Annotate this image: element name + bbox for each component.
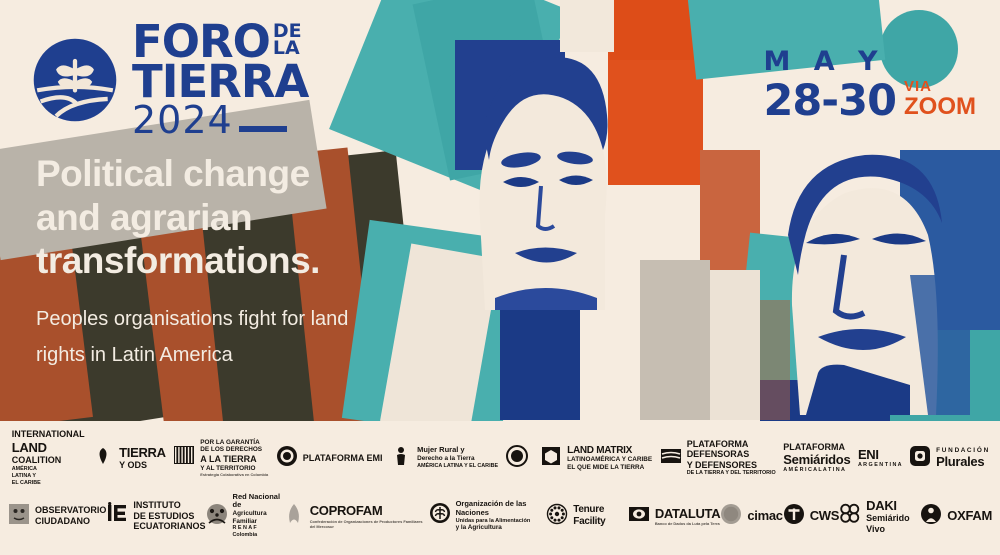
partner-line: Semiárido Vivo bbox=[866, 513, 920, 534]
partner-logo-cimac[interactable]: cimac bbox=[720, 503, 782, 530]
cube-icon bbox=[540, 445, 562, 467]
partner-line: cimac bbox=[747, 508, 782, 523]
brand-year: 2024 bbox=[132, 102, 233, 138]
ie-monogram-icon bbox=[106, 502, 128, 529]
partner-label-cws: CWS bbox=[810, 508, 839, 523]
partner-line: PLATAFORMA bbox=[687, 439, 776, 450]
flag-box-icon bbox=[628, 503, 650, 530]
partner-logo-tenure-facility[interactable]: Tenure Facility bbox=[546, 503, 628, 530]
partner-logo-international-land-coalition[interactable]: INTERNATIONALLANDCOALITIONAMÉRICALATINA … bbox=[12, 429, 85, 487]
partner-subline: R E N A F Colombia bbox=[233, 525, 283, 539]
event-poster: FORO DE LA TIERRA 2024 Political change … bbox=[0, 0, 1000, 555]
partner-line: OBSERVATORIO bbox=[35, 505, 106, 516]
striped-square-icon bbox=[173, 444, 195, 471]
plant-field-circle-icon bbox=[32, 37, 118, 123]
partner-label-fundacion-plurales: F U N D A C I Ó NPlurales bbox=[936, 447, 988, 470]
portrait-woman bbox=[455, 10, 625, 310]
globe-dots-icon bbox=[546, 503, 568, 530]
portrait-woman-icon bbox=[455, 10, 625, 310]
round-seal-icon bbox=[720, 503, 742, 530]
round-seal-icon bbox=[720, 503, 742, 525]
leaf-icon bbox=[92, 445, 114, 467]
partner-subline: Confederación de Organizaciones de Produ… bbox=[310, 519, 429, 529]
partner-logo-dataluta[interactable]: DATALUTABanco de Dados da Luta pela Terr… bbox=[628, 503, 720, 530]
brand-underline bbox=[239, 126, 287, 132]
partner-label-oxfam: OXFAM bbox=[947, 508, 992, 523]
subtitle-line-1: Peoples organisations fight for land bbox=[36, 301, 466, 337]
foro-de-la-tierra-logo: FORO DE LA TIERRA 2024 bbox=[32, 22, 308, 138]
grey-square-icon bbox=[8, 503, 30, 525]
partner-line: INSTITUTO bbox=[133, 500, 205, 511]
partner-label-land-matrix: LAND MATRIXLATINOAMÉRICA Y CARIBEEL QUE … bbox=[567, 445, 652, 472]
fao-wheat-icon bbox=[429, 502, 451, 524]
partner-line: DATALUTA bbox=[655, 506, 720, 521]
partner-subline: AMÉRICA LATINA Y EL CARIBE bbox=[417, 463, 498, 470]
rounded-square-icon bbox=[909, 445, 931, 472]
shape-grey-fleck bbox=[640, 260, 710, 420]
partner-line: CWS bbox=[810, 508, 839, 523]
event-platform: ZOOM bbox=[904, 93, 976, 120]
partner-line: COPROFAM bbox=[310, 503, 429, 518]
cross-circle-icon bbox=[783, 503, 805, 525]
partner-logo-plataforma-semiaridos[interactable]: PLATAFORMASemiáridosA M É R I C A L A T … bbox=[783, 442, 850, 475]
partner-line: ENI bbox=[858, 447, 902, 462]
circle-emblem-icon bbox=[276, 445, 298, 467]
partner-line: Y AL TERRITORIO bbox=[200, 465, 268, 473]
partner-line: DE ESTUDIOS bbox=[133, 511, 205, 522]
partner-label-observatorio-ciudadano: OBSERVATORIOCIUDADANO bbox=[35, 505, 106, 526]
partner-logo-red-nacional-de-agricultura-familiar[interactable]: Red Nacional deAgricultura FamiliarR E N… bbox=[206, 493, 283, 540]
partner-line: CIUDADANO bbox=[35, 516, 106, 527]
feather-icon bbox=[283, 503, 305, 530]
partner-label-plataforma-emi: PLATAFORMA EMI bbox=[303, 453, 383, 464]
partner-line: LATINOAMÉRICA Y CARIBE bbox=[567, 456, 652, 464]
partner-label-plataforma-semiaridos: PLATAFORMASemiáridosA M É R I C A L A T … bbox=[783, 442, 850, 475]
wave-block-icon bbox=[660, 445, 682, 472]
partner-logo-plataforma-defensoras-y-defensores[interactable]: PLATAFORMADEFENSORASY DEFENSORESDE LA TI… bbox=[660, 439, 776, 478]
partner-logo-por-la-garantia-de-los-derechos[interactable]: POR LA GARANTÍADE LOS DERECHOSA LA TIERR… bbox=[173, 439, 268, 477]
event-days: 28-30 bbox=[763, 81, 896, 122]
partner-row-1: INTERNATIONALLANDCOALITIONAMÉRICALATINA … bbox=[0, 429, 1000, 487]
ie-monogram-icon bbox=[106, 502, 128, 524]
partner-subline: A M É R I C A L A T I N A bbox=[783, 467, 850, 474]
headline-line-1: Political change bbox=[36, 152, 466, 196]
person-circle-icon bbox=[920, 503, 942, 525]
partner-label-international-land-coalition: INTERNATIONALLANDCOALITIONAMÉRICALATINA … bbox=[12, 429, 85, 487]
partner-label-eni-argentina: ENIA R G E N T I N A bbox=[858, 447, 902, 469]
partner-logo-observatorio-ciudadano[interactable]: OBSERVATORIOCIUDADANO bbox=[8, 503, 106, 530]
partner-line: Agricultura Familiar bbox=[233, 510, 283, 525]
partner-label-fao: Organización de las NacionesUnidas para … bbox=[456, 500, 547, 532]
partner-label-mujer-rural-y-derecho-a-la-tierra: Mujer Rural yDerecho a la TierraAMÉRICA … bbox=[417, 446, 498, 469]
seal-icon bbox=[506, 445, 528, 472]
partner-line: LAND bbox=[12, 440, 85, 455]
partner-logo-emblem-seal[interactable] bbox=[506, 445, 533, 472]
event-month: M A Y bbox=[763, 48, 976, 75]
feather-icon bbox=[283, 503, 305, 525]
portrait-man-icon bbox=[760, 115, 970, 415]
partner-logo-oxfam[interactable]: OXFAM bbox=[920, 503, 992, 530]
partner-line: Unidas para la Alimentación bbox=[456, 518, 547, 525]
globe-dots-icon bbox=[546, 503, 568, 525]
event-date-block: M A Y 28-30 VIA ZOOM bbox=[763, 48, 976, 122]
partner-subline: LATINA Y bbox=[12, 473, 85, 480]
partner-line: A LA TIERRA bbox=[200, 454, 268, 465]
partner-line: COALITION bbox=[12, 455, 85, 466]
brand-wordmark: FORO DE LA TIERRA 2024 bbox=[132, 22, 308, 138]
partner-label-tenure-facility: Tenure Facility bbox=[573, 504, 628, 528]
partner-subline: EL CARIBE bbox=[12, 480, 85, 487]
partner-line: Organización de las Naciones bbox=[456, 500, 547, 518]
partner-line: PLATAFORMA EMI bbox=[303, 453, 383, 464]
brand-de-la: DE LA bbox=[273, 23, 302, 58]
partner-line: DE LOS DERECHOS bbox=[200, 446, 268, 454]
circle-emblem-icon bbox=[276, 445, 298, 472]
partner-line: Tenure Facility bbox=[573, 504, 628, 528]
leaf-icon bbox=[92, 445, 114, 472]
partner-line: DEFENSORAS bbox=[687, 449, 776, 460]
partner-label-coprofam: COPROFAMConfederación de Organizaciones … bbox=[310, 503, 429, 528]
partner-subline: A R G E N T I N A bbox=[858, 462, 902, 469]
partner-logo-coprofam[interactable]: COPROFAMConfederación de Organizaciones … bbox=[283, 503, 429, 530]
partner-line: y la Agricultura bbox=[456, 524, 547, 532]
partner-subline: Banco de Dados da Luta pela Terra bbox=[655, 521, 720, 526]
family-circle-icon bbox=[206, 503, 228, 530]
partner-line: Y ODS bbox=[119, 460, 166, 471]
headline-line-3: transformations. bbox=[36, 239, 466, 283]
portrait-man bbox=[760, 115, 970, 415]
cube-icon bbox=[540, 445, 562, 472]
partner-label-cimac: cimac bbox=[747, 508, 782, 523]
figure-icon bbox=[390, 445, 412, 467]
subtitle-block: Peoples organisations fight for land rig… bbox=[36, 301, 466, 374]
partner-logo-eni-argentina[interactable]: ENIA R G E N T I N A bbox=[858, 447, 902, 469]
partner-subline: AMÉRICA bbox=[12, 466, 85, 473]
partner-line: ECUATORIANOS bbox=[133, 521, 205, 532]
partner-logo-daki-semiarido-vivo[interactable]: DAKISemiárido Vivo bbox=[839, 498, 920, 535]
partner-label-red-nacional-de-agricultura-familiar: Red Nacional deAgricultura FamiliarR E N… bbox=[233, 493, 283, 540]
partner-label-daki-semiarido-vivo: DAKISemiárido Vivo bbox=[866, 498, 920, 535]
brand-tierra: TIERRA bbox=[132, 62, 308, 103]
partner-line: INTERNATIONAL bbox=[12, 429, 85, 440]
partner-line: EL QUE MIDE LA TIERRA bbox=[567, 464, 652, 472]
partner-logo-tierra-y-ods[interactable]: TIERRAY ODS bbox=[92, 445, 166, 472]
shape-cream-fleck-a bbox=[560, 0, 614, 52]
partner-label-instituto-de-estudios-ecuatorianos: INSTITUTODE ESTUDIOSECUATORIANOS bbox=[133, 500, 205, 532]
figure-icon bbox=[390, 445, 412, 472]
partner-line: Y DEFENSORES bbox=[687, 460, 776, 471]
partner-logo-land-matrix[interactable]: LAND MATRIXLATINOAMÉRICA Y CARIBEEL QUE … bbox=[540, 445, 652, 472]
partner-row-2: OBSERVATORIOCIUDADANOINSTITUTODE ESTUDIO… bbox=[0, 487, 1000, 545]
partner-logo-mujer-rural-y-derecho-a-la-tierra[interactable]: Mujer Rural yDerecho a la TierraAMÉRICA … bbox=[390, 445, 498, 472]
partner-line: DAKI bbox=[866, 498, 920, 513]
spiral-icon bbox=[839, 502, 861, 529]
partner-label-plataforma-defensoras-y-defensores: PLATAFORMADEFENSORASY DEFENSORESDE LA TI… bbox=[687, 439, 776, 478]
partner-line: Mujer Rural y bbox=[417, 446, 498, 455]
partner-subline: DE LA TIERRA Y DEL TERRITORIO bbox=[687, 470, 776, 477]
partner-line: Semiáridos bbox=[783, 452, 850, 467]
seal-icon bbox=[506, 445, 528, 467]
partner-label-dataluta: DATALUTABanco de Dados da Luta pela Terr… bbox=[655, 506, 720, 526]
grey-square-icon bbox=[8, 503, 30, 530]
event-platform-block: VIA ZOOM bbox=[904, 79, 976, 120]
subtitle-line-2: rights in Latin America bbox=[36, 337, 466, 373]
partner-line: Red Nacional de bbox=[233, 493, 283, 511]
striped-square-icon bbox=[173, 444, 195, 466]
partner-logo-cws[interactable]: CWS bbox=[783, 503, 839, 530]
family-circle-icon bbox=[206, 503, 228, 525]
partner-line: PLATAFORMA bbox=[783, 442, 850, 453]
partner-line: POR LA GARANTÍA bbox=[200, 439, 268, 447]
partner-logo-plataforma-emi[interactable]: PLATAFORMA EMI bbox=[276, 445, 383, 472]
partner-line: F U N D A C I Ó N bbox=[936, 447, 988, 455]
wave-block-icon bbox=[660, 445, 682, 467]
partner-line: Derecho a la Tierra bbox=[417, 455, 498, 463]
spiral-icon bbox=[839, 502, 861, 524]
rounded-square-icon bbox=[909, 445, 931, 467]
partner-logo-fao[interactable]: Organización de las NacionesUnidas para … bbox=[429, 500, 547, 532]
partner-line: OXFAM bbox=[947, 508, 992, 523]
partner-logo-instituto-de-estudios-ecuatorianos[interactable]: INSTITUTODE ESTUDIOSECUATORIANOS bbox=[106, 500, 205, 532]
headline-line-2: and agrarian bbox=[36, 196, 466, 240]
partner-line: LAND MATRIX bbox=[567, 445, 652, 457]
partner-label-tierra-y-ods: TIERRAY ODS bbox=[119, 445, 166, 471]
partner-label-por-la-garantia-de-los-derechos: POR LA GARANTÍADE LOS DERECHOSA LA TIERR… bbox=[200, 439, 268, 477]
flag-box-icon bbox=[628, 503, 650, 525]
partner-line: TIERRA bbox=[119, 445, 166, 460]
headline-block: Political change and agrarian transforma… bbox=[36, 152, 466, 374]
partner-subline: Estrategia Colaborativa en Colombia bbox=[200, 472, 268, 477]
fao-wheat-icon bbox=[429, 502, 451, 529]
partner-logo-fundacion-plurales[interactable]: F U N D A C I Ó NPlurales bbox=[909, 445, 988, 472]
partner-logo-band: INTERNATIONALLANDCOALITIONAMÉRICALATINA … bbox=[0, 421, 1000, 555]
partner-line: Plurales bbox=[936, 454, 988, 469]
shape-rust-fleck-right bbox=[760, 300, 790, 420]
cross-circle-icon bbox=[783, 503, 805, 530]
person-circle-icon bbox=[920, 503, 942, 530]
